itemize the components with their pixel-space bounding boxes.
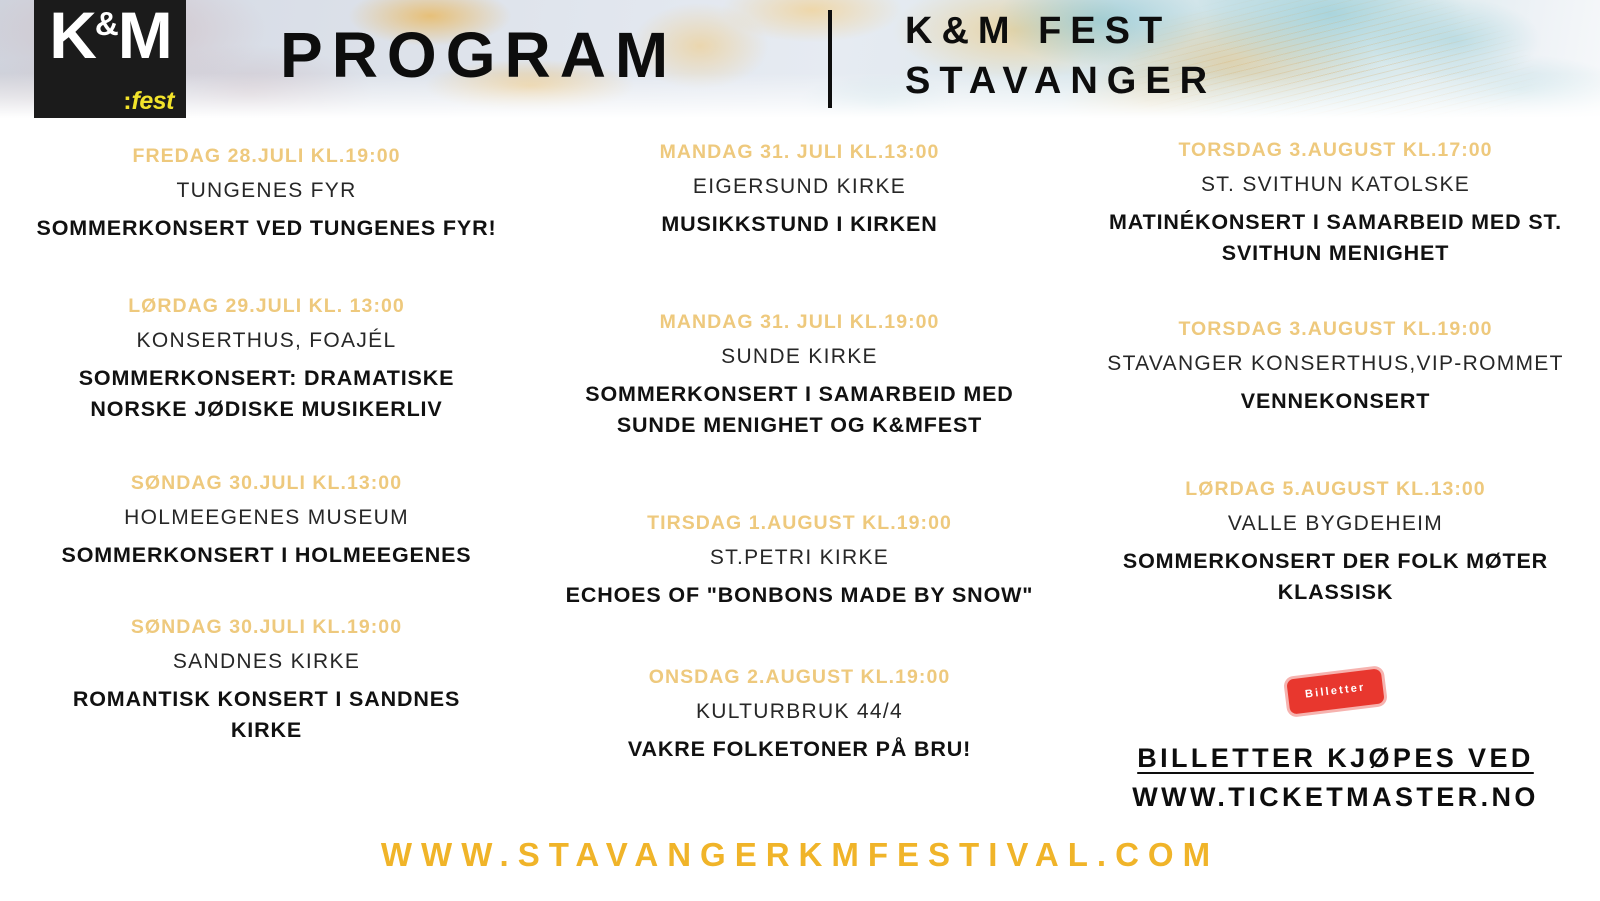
event-item: LØRDAG 5.AUGUST KL.13:00 VALLE BYGDEHEIM…	[1096, 475, 1575, 608]
logo-ampersand: &	[95, 5, 118, 42]
event-title: SOMMERKONSERT DER FOLK MØTER KLASSISK	[1096, 546, 1575, 608]
event-item: SØNDAG 30.JULI KL.13:00 HOLMEEGENES MUSE…	[36, 469, 497, 571]
program-column-2: MANDAG 31. JULI KL.13:00 EIGERSUND KIRKE…	[533, 118, 1066, 808]
page-title: PROGRAM	[280, 12, 677, 98]
event-title: SOMMERKONSERT I HOLMEEGENES	[36, 540, 497, 571]
event-venue: STAVANGER KONSERTHUS,VIP-ROMMET	[1096, 348, 1575, 381]
header-divider	[828, 10, 832, 108]
event-date: FREDAG 28.JULI KL.19:00	[36, 142, 497, 171]
event-title: SOMMERKONSERT: DRAMATISKE NORSKE JØDISKE…	[36, 363, 497, 425]
header-fade-overlay	[0, 0, 1600, 118]
gold-linework-layer	[0, 0, 1600, 118]
logo-fest-dots: :	[123, 87, 131, 115]
festival-website-url[interactable]: WWW.STAVANGERKMFESTIVAL.COM	[381, 836, 1219, 874]
watercolor-base-layer	[0, 0, 1600, 118]
event-title: SOMMERKONSERT VED TUNGENES FYR!	[36, 213, 497, 244]
event-venue: ST.PETRI KIRKE	[557, 542, 1042, 575]
ticket-line-1: BILLETTER KJØPES VED	[1096, 739, 1575, 777]
event-venue: TUNGENES FYR	[36, 175, 497, 208]
event-item: TORSDAG 3.AUGUST KL.19:00 STAVANGER KONS…	[1096, 315, 1575, 417]
program-column-3: TORSDAG 3.AUGUST KL.17:00 ST. SVITHUN KA…	[1066, 118, 1599, 808]
event-venue: SUNDE KIRKE	[557, 341, 1042, 374]
logo-letter-k: K	[49, 0, 95, 72]
event-title: ROMANTISK KONSERT I SANDNES KIRKE	[36, 684, 497, 746]
event-title: SOMMERKONSERT I SAMARBEID MED SUNDE MENI…	[557, 379, 1042, 441]
event-item: ONSDAG 2.AUGUST KL.19:00 KULTURBRUK 44/4…	[557, 663, 1042, 765]
event-title: VAKRE FOLKETONER PÅ BRU!	[557, 734, 1042, 765]
event-date: TORSDAG 3.AUGUST KL.19:00	[1096, 315, 1575, 344]
event-item: SØNDAG 30.JULI KL.19:00 SANDNES KIRKE RO…	[36, 613, 497, 746]
event-title: VENNEKONSERT	[1096, 386, 1575, 417]
program-poster: K&M :fest PROGRAM K&M FEST STAVANGER FRE…	[0, 0, 1600, 901]
event-date: LØRDAG 29.JULI KL. 13:00	[36, 292, 497, 321]
logo-fest-text: :fest	[123, 89, 174, 114]
event-date: TORSDAG 3.AUGUST KL.17:00	[1096, 136, 1575, 165]
program-columns: FREDAG 28.JULI KL.19:00 TUNGENES FYR SOM…	[0, 118, 1600, 808]
event-title: MATINÉKONSERT I SAMARBEID MED ST. SVITHU…	[1096, 207, 1575, 269]
event-venue: VALLE BYGDEHEIM	[1096, 508, 1575, 541]
ticket-info-block: Billetter BILLETTER KJØPES VED WWW.TICKE…	[1096, 674, 1575, 816]
event-date: LØRDAG 5.AUGUST KL.13:00	[1096, 475, 1575, 504]
event-item: TORSDAG 3.AUGUST KL.17:00 ST. SVITHUN KA…	[1096, 136, 1575, 269]
event-venue: KULTURBRUK 44/4	[557, 696, 1042, 729]
event-item: MANDAG 31. JULI KL.13:00 EIGERSUND KIRKE…	[557, 138, 1042, 240]
event-date: MANDAG 31. JULI KL.13:00	[557, 138, 1042, 167]
event-venue: HOLMEEGENES MUSEUM	[36, 502, 497, 535]
event-date: SØNDAG 30.JULI KL.13:00	[36, 469, 497, 498]
brand-line-2: STAVANGER	[905, 56, 1216, 106]
brand-line-1: K&M FEST	[905, 6, 1216, 56]
event-venue: KONSERTHUS, FOAJÉL	[36, 325, 497, 358]
ticket-purchase-text: BILLETTER KJØPES VED WWW.TICKETMASTER.NO	[1096, 739, 1575, 816]
logo-letter-m: M	[118, 0, 171, 72]
event-item: LØRDAG 29.JULI KL. 13:00 KONSERTHUS, FOA…	[36, 292, 497, 425]
event-item: MANDAG 31. JULI KL.19:00 SUNDE KIRKE SOM…	[557, 308, 1042, 441]
logo-km-text: K&M	[34, 2, 186, 68]
brand-name: K&M FEST STAVANGER	[905, 6, 1216, 106]
km-fest-logo: K&M :fest	[34, 0, 186, 118]
poster-footer: WWW.STAVANGERKMFESTIVAL.COM	[0, 808, 1600, 901]
billetter-badge-icon[interactable]: Billetter	[1286, 669, 1384, 715]
watercolor-gold-layer	[0, 0, 1600, 118]
watercolor-teal-layer	[0, 0, 1600, 118]
program-column-1: FREDAG 28.JULI KL.19:00 TUNGENES FYR SOM…	[0, 118, 533, 808]
event-venue: ST. SVITHUN KATOLSKE	[1096, 169, 1575, 202]
event-date: ONSDAG 2.AUGUST KL.19:00	[557, 663, 1042, 692]
logo-fest-word: fest	[132, 87, 174, 115]
event-item: FREDAG 28.JULI KL.19:00 TUNGENES FYR SOM…	[36, 142, 497, 244]
event-date: SØNDAG 30.JULI KL.19:00	[36, 613, 497, 642]
event-item: TIRSDAG 1.AUGUST KL.19:00 ST.PETRI KIRKE…	[557, 509, 1042, 611]
poster-header: K&M :fest PROGRAM K&M FEST STAVANGER	[0, 0, 1600, 118]
event-venue: SANDNES KIRKE	[36, 646, 497, 679]
watercolor-rose-layer	[0, 0, 1600, 118]
event-venue: EIGERSUND KIRKE	[557, 171, 1042, 204]
event-title: ECHOES OF "BONBONS MADE BY SNOW"	[557, 580, 1042, 611]
event-title: MUSIKKSTUND I KIRKEN	[557, 209, 1042, 240]
event-date: TIRSDAG 1.AUGUST KL.19:00	[557, 509, 1042, 538]
event-date: MANDAG 31. JULI KL.19:00	[557, 308, 1042, 337]
